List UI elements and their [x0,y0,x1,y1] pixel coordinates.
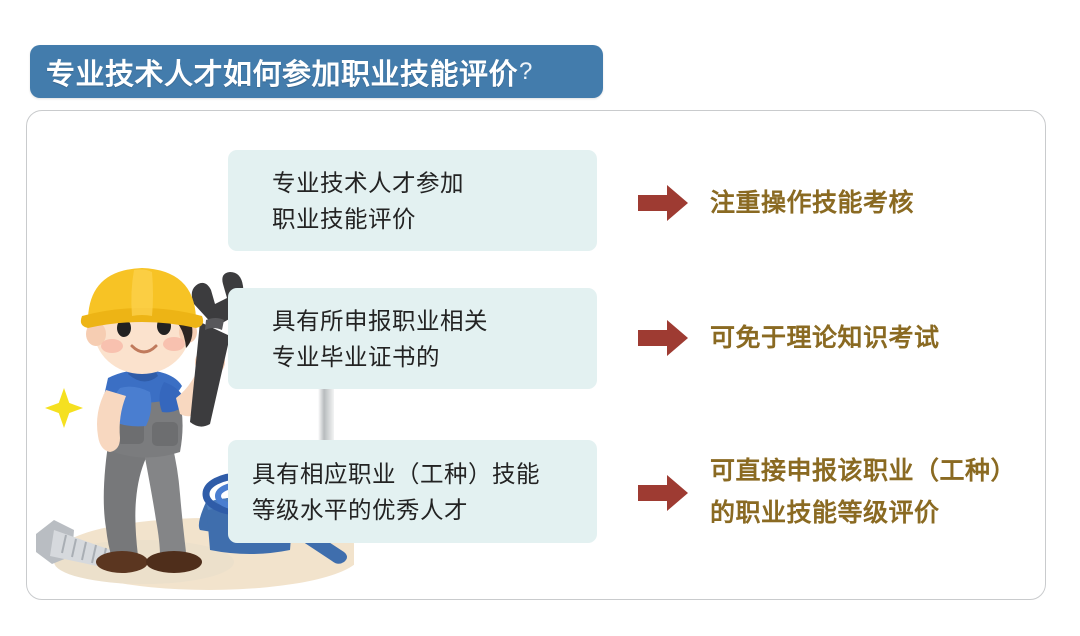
result-row-3: 可直接申报该职业（工种） 的职业技能等级评价 [636,450,1016,534]
condition-box-1-line-2: 职业技能评价 [272,201,597,237]
condition-box-3-line-2: 等级水平的优秀人才 [252,492,597,528]
condition-box-2: 具有所申报职业相关 专业毕业证书的 [228,288,597,389]
right-arrow-icon [636,183,690,223]
condition-box-3: 具有相应职业（工种）技能 等级水平的优秀人才 [228,440,597,543]
result-text-2-line-1: 可免于理论知识考试 [710,318,940,358]
shoe-right [146,551,202,573]
page-title-bar: 专业技术人才如何参加职业技能评价 ? [30,45,603,98]
condition-box-2-line-1: 具有所申报职业相关 [272,303,597,339]
condition-box-1: 专业技术人才参加 职业技能评价 [228,150,597,251]
sparkle-icon [45,401,83,415]
result-text-3-line-2: 的职业技能等级评价 [710,492,1016,534]
page-title: 专业技术人才如何参加职业技能评价 [46,51,518,93]
right-arrow-icon [636,473,690,513]
condition-box-1-line-1: 专业技术人才参加 [272,165,597,201]
shoe-left [96,551,148,573]
helmet-ridge [131,269,153,316]
result-text-1-wrap: 注重操作技能考核 [710,183,914,223]
result-text-2-wrap: 可免于理论知识考试 [710,318,940,358]
page-title-question-mark: ? [519,58,532,86]
overalls-pocket-2 [152,422,178,446]
result-row-1: 注重操作技能考核 [636,183,914,223]
result-row-2: 可免于理论知识考试 [636,318,940,358]
condition-box-2-line-2: 专业毕业证书的 [272,339,597,375]
condition-box-3-line-1: 具有相应职业（工种）技能 [252,456,597,492]
cheek-left [101,339,123,353]
right-arrow-icon [636,318,690,358]
result-text-1-line-1: 注重操作技能考核 [710,183,914,223]
result-text-3-wrap: 可直接申报该职业（工种） 的职业技能等级评价 [710,450,1016,534]
result-text-3-line-1: 可直接申报该职业（工种） [710,450,1016,492]
cheek-right [163,337,185,351]
